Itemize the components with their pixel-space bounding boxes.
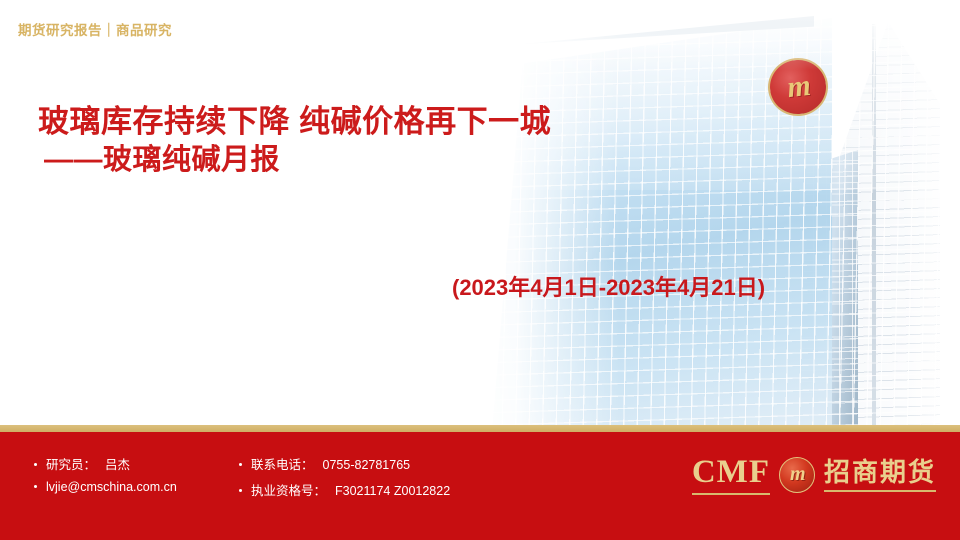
building-photo: m bbox=[470, 0, 960, 432]
photo-right-fade bbox=[900, 0, 960, 432]
list-item: lvjie@cmschina.com.cn bbox=[34, 480, 239, 494]
license-number: F3021174 Z0012822 bbox=[335, 484, 450, 498]
brand-emblem-icon: m bbox=[779, 457, 815, 493]
list-item: 研究员： 吕杰 bbox=[34, 454, 239, 473]
analyst-email[interactable]: lvjie@cmschina.com.cn bbox=[46, 480, 177, 494]
phone-number: 0755-82781765 bbox=[323, 458, 411, 472]
list-item: 联系电话： 0755-82781765 bbox=[239, 454, 450, 473]
report-category-eyebrow: 期货研究报告｜商品研究 bbox=[18, 19, 172, 39]
phone-label: 联系电话： bbox=[251, 454, 314, 473]
page-title: 玻璃库存持续下降 纯碱价格再下一城 bbox=[38, 104, 658, 141]
page-subtitle: ——玻璃纯碱月报 bbox=[38, 143, 658, 178]
bullet-icon bbox=[239, 489, 242, 492]
slide-root: m 期货研究报告｜商品研究 玻璃库存持续下降 纯碱价格再下一城 ——玻璃纯碱月报… bbox=[0, 0, 960, 540]
analyst-name: 吕杰 bbox=[105, 454, 130, 473]
photo-top-fade bbox=[470, 0, 960, 70]
brand-latin-name: CMF bbox=[692, 456, 770, 495]
brand-emblem-mark: m bbox=[790, 463, 804, 486]
contact-info-group: 研究员： 吕杰 lvjie@cmschina.com.cn 联系电话： 0755… bbox=[34, 454, 450, 499]
license-label: 执业资格号： bbox=[251, 480, 326, 499]
company-logo: CMF m 招商期货 bbox=[692, 456, 936, 495]
gold-divider bbox=[0, 425, 960, 432]
bullet-icon bbox=[34, 463, 37, 466]
footer-bar: 研究员： 吕杰 lvjie@cmschina.com.cn 联系电话： 0755… bbox=[0, 432, 960, 540]
bullet-icon bbox=[239, 463, 242, 466]
contact-column-left: 研究员： 吕杰 lvjie@cmschina.com.cn bbox=[34, 454, 239, 499]
analyst-label: 研究员： bbox=[46, 454, 96, 473]
bullet-icon bbox=[34, 485, 37, 488]
list-item: 执业资格号： F3021174 Z0012822 bbox=[239, 480, 450, 499]
contact-column-right: 联系电话： 0755-82781765 执业资格号： F3021174 Z001… bbox=[239, 454, 450, 499]
brand-chinese-name: 招商期货 bbox=[824, 459, 936, 492]
date-range-label: (2023年4月1日-2023年4月21日) bbox=[452, 270, 765, 302]
title-block: 玻璃库存持续下降 纯碱价格再下一城 ——玻璃纯碱月报 bbox=[38, 104, 658, 178]
